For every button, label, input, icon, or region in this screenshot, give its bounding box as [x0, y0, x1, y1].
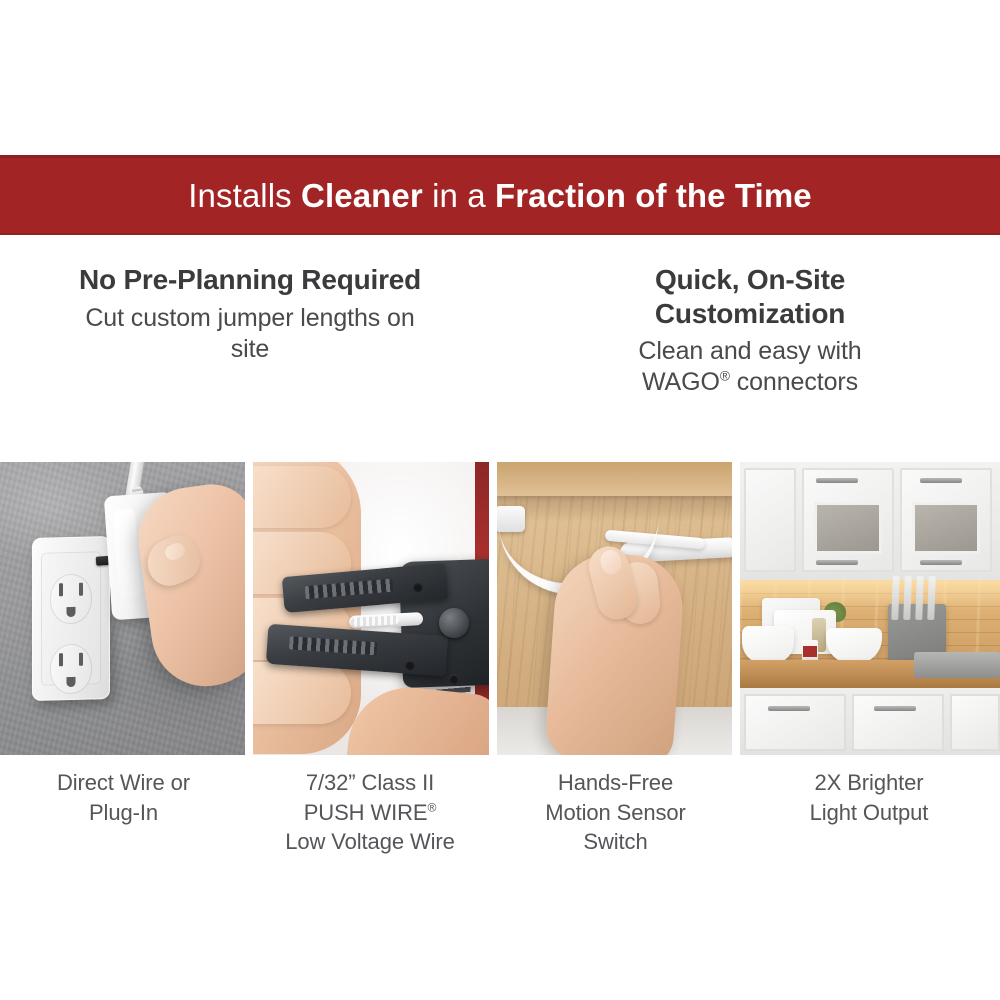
photo-strip [0, 462, 1000, 755]
knife [891, 576, 900, 620]
tool-hole [413, 582, 423, 592]
cabinet-pull [768, 706, 810, 711]
feature-subtitle-1: Cut custom jumper lengths on site [70, 303, 430, 366]
lower-cabinet-door [744, 694, 846, 751]
outlet-slot-right [79, 653, 83, 666]
feature-title-2: Quick, On-Site Customization [560, 263, 940, 330]
banner-headline: Installs Cleaner in a Fraction of the Ti… [188, 177, 811, 215]
banner-middle: in a [423, 177, 495, 214]
outlet-slot-left [59, 583, 63, 596]
caption-row: Direct Wire or Plug-In 7/32” Class IIPUS… [0, 768, 1000, 857]
caption-3-line-1: Hands-Free [558, 770, 673, 795]
cabinet-pull [920, 478, 962, 483]
caption-brighter-output: 2X Brighter Light Output [738, 768, 1000, 857]
cabinet-pull [816, 560, 858, 565]
registered-trademark-icon: ® [427, 800, 436, 814]
finger [253, 662, 351, 724]
feature-subtitle-2: Clean and easy withWAGO® connectors [560, 336, 940, 399]
cabinet-door-glass [802, 468, 894, 572]
caption-4-line-1: 2X Brighter [815, 770, 924, 795]
photo-direct-wire-or-plug-in [0, 462, 245, 755]
outlet-slot-left [59, 653, 63, 666]
white-bowl [742, 626, 794, 664]
outlet-receptacle-bottom [50, 643, 92, 694]
cabinet-door [744, 468, 796, 572]
photo-wire-stripping [253, 462, 489, 755]
banner-bold-cleaner: Cleaner [301, 177, 423, 214]
cabinet-pull [874, 706, 916, 711]
caption-3-line-2: Motion Sensor [545, 800, 686, 825]
lower-cabinet-door [950, 694, 1000, 751]
feature-title-1: No Pre-Planning Required [70, 263, 430, 297]
knife [915, 576, 924, 620]
condiment-jar [802, 640, 818, 662]
caption-push-wire: 7/32” Class IIPUSH WIRE® Low Voltage Wir… [247, 768, 493, 857]
registered-trademark-icon: ® [720, 369, 730, 384]
outlet-ground-pin [67, 607, 76, 617]
tool-hole [405, 660, 415, 670]
outlet-plate-inner [41, 551, 101, 686]
knife [927, 576, 936, 620]
feature-column-no-pre-planning: No Pre-Planning Required Cut custom jump… [0, 263, 500, 399]
outlet-receptacle-top [50, 573, 92, 624]
feature-subtitle-2-line1: Clean and easy with [638, 337, 861, 365]
cabinet-pull [920, 560, 962, 565]
headline-banner: Installs Cleaner in a Fraction of the Ti… [0, 155, 1000, 235]
caption-4-line-2: Light Output [810, 800, 929, 825]
outlet-slot-right [79, 583, 83, 596]
finger [253, 466, 351, 528]
caption-direct-wire: Direct Wire or Plug-In [0, 768, 247, 857]
outlet-ground-pin [67, 677, 76, 687]
frosted-glass-panel [912, 502, 980, 554]
banner-bold-fraction: Fraction of the Time [495, 177, 812, 214]
caption-motion-sensor: Hands-Free Motion Sensor Switch [493, 768, 738, 857]
cabinet-pull [816, 478, 858, 483]
stripper-teeth [289, 636, 378, 655]
photo-kitchen-lit [740, 462, 1000, 755]
feature-headline-row: No Pre-Planning Required Cut custom jump… [0, 235, 1000, 409]
caption-1-line-1: Direct Wire or [57, 770, 190, 795]
frosted-glass-panel [814, 502, 882, 554]
caption-2-line-1: 7/32” Class II [306, 770, 434, 795]
feature-column-quick-customization: Quick, On-Site Customization Clean and e… [500, 263, 1000, 399]
stripper-teeth [305, 579, 394, 600]
stripper-pivot-bolt [439, 608, 469, 638]
feature-subtitle-2-line2: connectors [730, 368, 858, 396]
knife [903, 576, 912, 620]
lower-cabinets [740, 688, 1000, 755]
kitchen-sink [914, 652, 1000, 678]
banner-prefix: Installs [188, 177, 301, 214]
photo-motion-sensor-install [497, 462, 732, 755]
infographic-page: Installs Cleaner in a Fraction of the Ti… [0, 0, 1000, 1000]
wago-brand: WAGO [642, 368, 720, 396]
caption-3-line-3: Switch [583, 829, 647, 854]
caption-1-line-2: Plug-In [89, 800, 158, 825]
cabinet-door-glass [900, 468, 992, 572]
lower-cabinet-door [852, 694, 944, 751]
caption-2-line-3: Low Voltage Wire [285, 829, 455, 854]
tool-hole [449, 674, 459, 684]
push-wire-brand: PUSH WIRE [304, 800, 428, 825]
upper-cabinets [740, 462, 1000, 580]
top-whitespace [0, 0, 1000, 155]
